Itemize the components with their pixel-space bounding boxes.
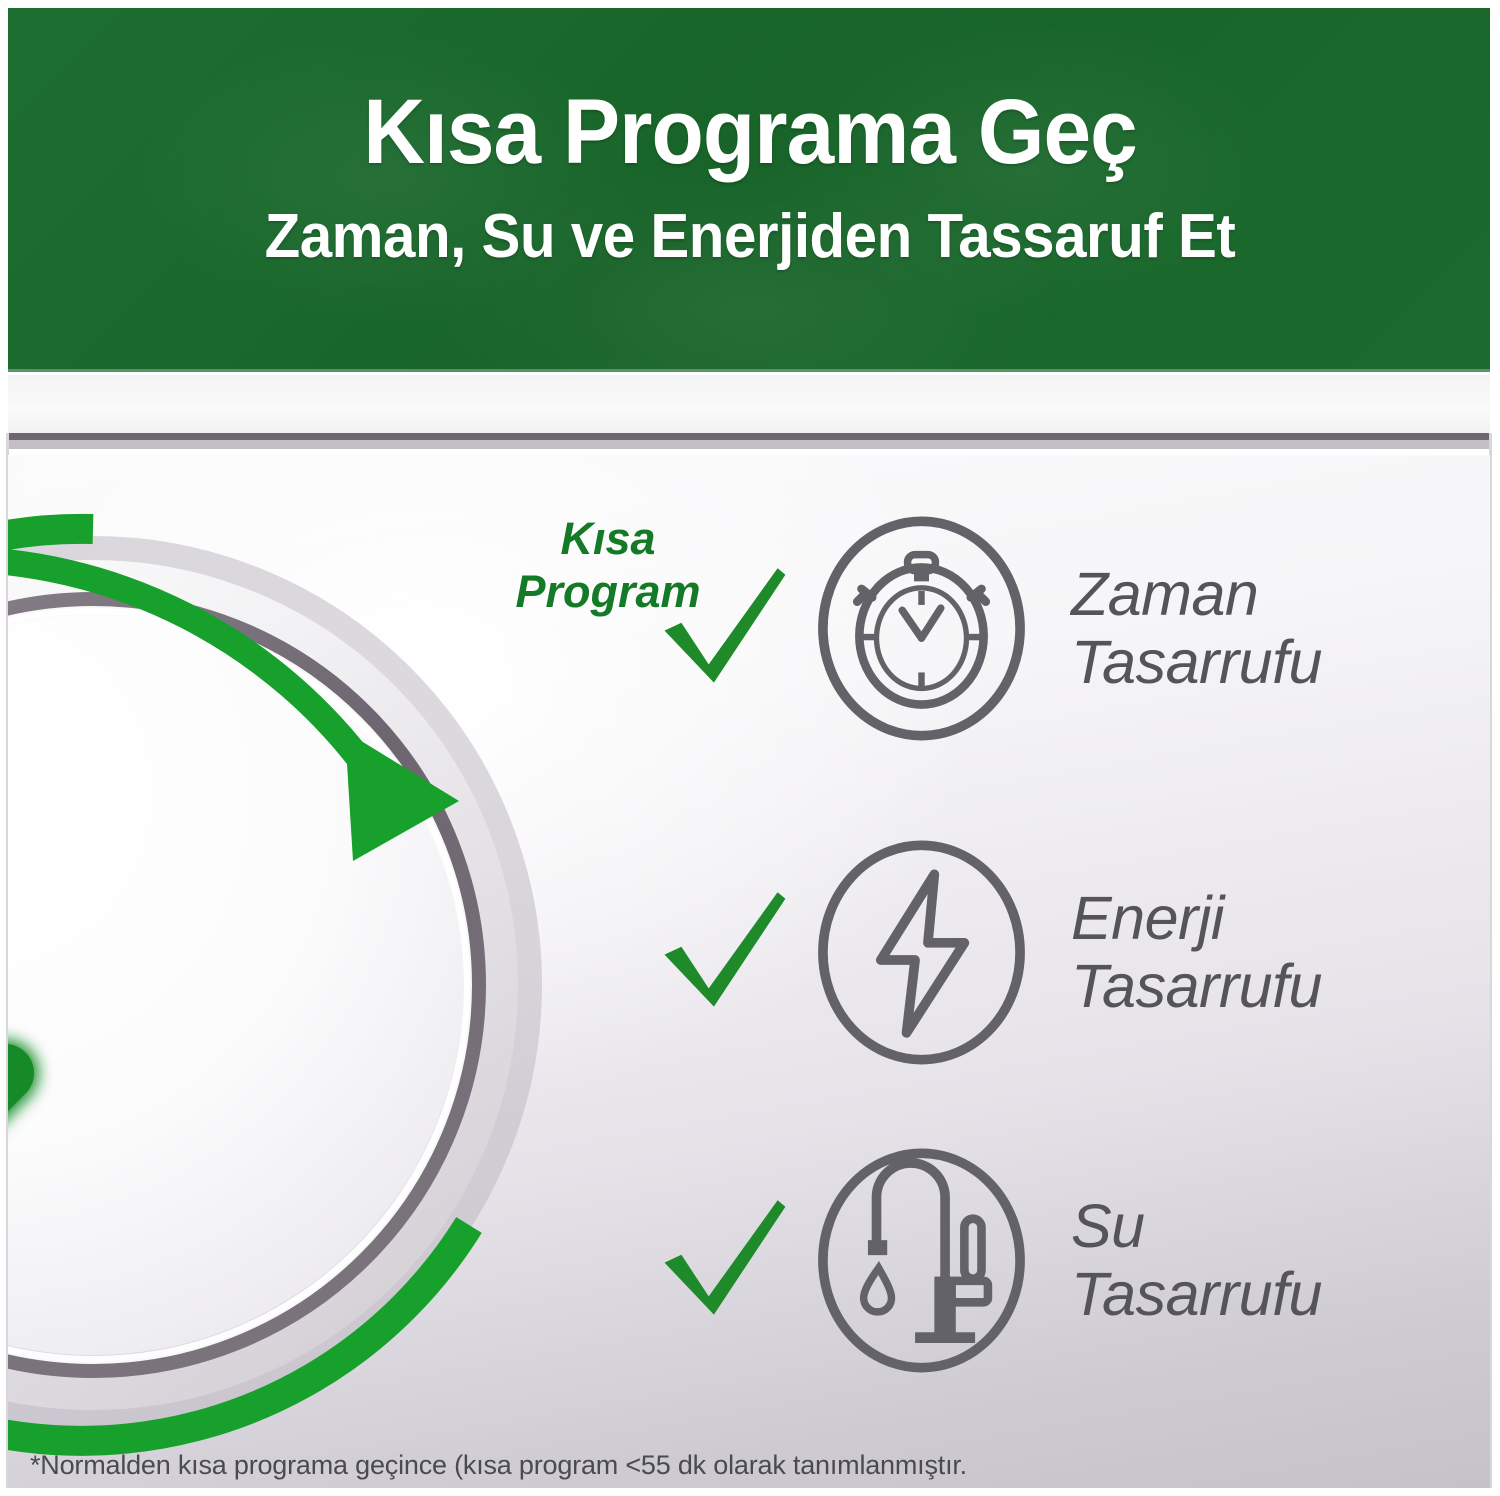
divider-rule-dark xyxy=(8,433,1490,440)
footnote-text: *Normalden kısa programa geçince (kısa p… xyxy=(30,1449,1330,1481)
feature-label: Zaman Tasarrufu xyxy=(1071,560,1322,697)
page-subtitle: Zaman, Su ve Enerjiden Tassaruf Et xyxy=(45,206,1455,268)
feature-label: Enerji Tasarrufu xyxy=(1071,884,1322,1021)
stopwatch-icon xyxy=(814,516,1029,741)
lightning-bolt-icon xyxy=(814,840,1029,1065)
faucet-icon xyxy=(814,1148,1029,1373)
promo-infographic: Kısa Programa Geç Zaman, Su ve Enerjiden… xyxy=(0,0,1500,1496)
check-mark-icon xyxy=(658,887,788,1017)
feature-row: Enerji Tasarrufu xyxy=(658,827,1468,1077)
header-band xyxy=(8,8,1490,372)
check-mark-icon xyxy=(658,563,788,693)
feature-label: Su Tasarrufu xyxy=(1071,1192,1322,1329)
main-stage: Kısa Program xyxy=(8,455,1490,1488)
divider-rule-light xyxy=(8,440,1490,449)
check-mark-icon xyxy=(658,1195,788,1325)
page-title: Kısa Programa Geç xyxy=(53,86,1448,178)
feature-row: Su Tasarrufu xyxy=(658,1135,1468,1385)
feature-row: Zaman Tasarrufu xyxy=(658,503,1468,753)
header-gap-band xyxy=(8,375,1490,433)
